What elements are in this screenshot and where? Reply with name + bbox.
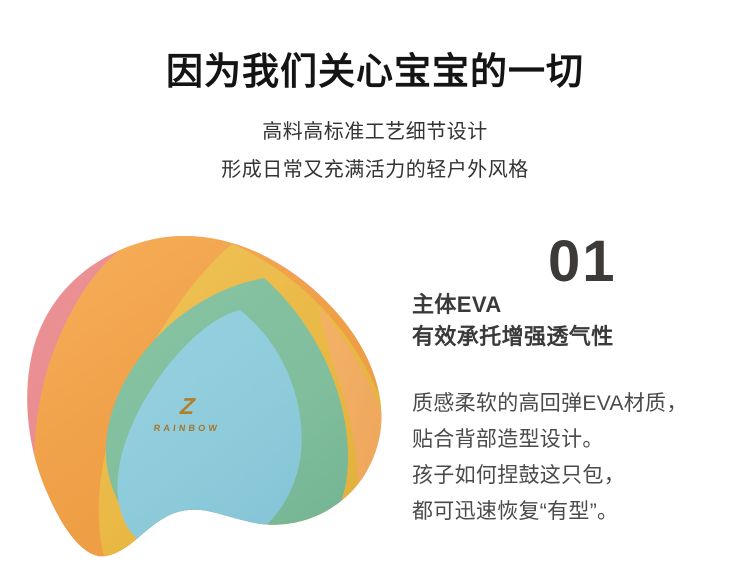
feature-number: 01	[548, 231, 617, 293]
feature-heading-line-1: 主体EVA	[412, 289, 614, 321]
subtitle-line-2: 形成日常又充满活力的轻户外风格	[0, 157, 750, 183]
eva-back-panel-illustration	[18, 222, 390, 574]
feature-heading: 主体EVA 有效承托增强透气性	[412, 289, 614, 353]
description-line-2: 贴合背部造型设计。	[412, 422, 688, 458]
feature-heading-line-2: 有效承托增强透气性	[412, 321, 614, 353]
subtitle-line-1: 高料高标准工艺细节设计	[0, 119, 750, 145]
panel-layers	[18, 222, 390, 574]
page-title: 因为我们关心宝宝的一切	[0, 49, 750, 95]
product-image: Z RAINBOW	[18, 222, 390, 574]
description-line-3: 孩子如何捏鼓这只包，	[412, 458, 688, 494]
feature-description: 质感柔软的高回弹EVA材质， 贴合背部造型设计。 孩子如何捏鼓这只包， 都可迅速…	[412, 386, 688, 530]
description-line-4: 都可迅速恢复“有型”。	[412, 494, 688, 530]
description-line-1: 质感柔软的高回弹EVA材质，	[412, 386, 688, 422]
product-detail-page: 因为我们关心宝宝的一切 高料高标准工艺细节设计 形成日常又充满活力的轻户外风格	[0, 0, 750, 588]
